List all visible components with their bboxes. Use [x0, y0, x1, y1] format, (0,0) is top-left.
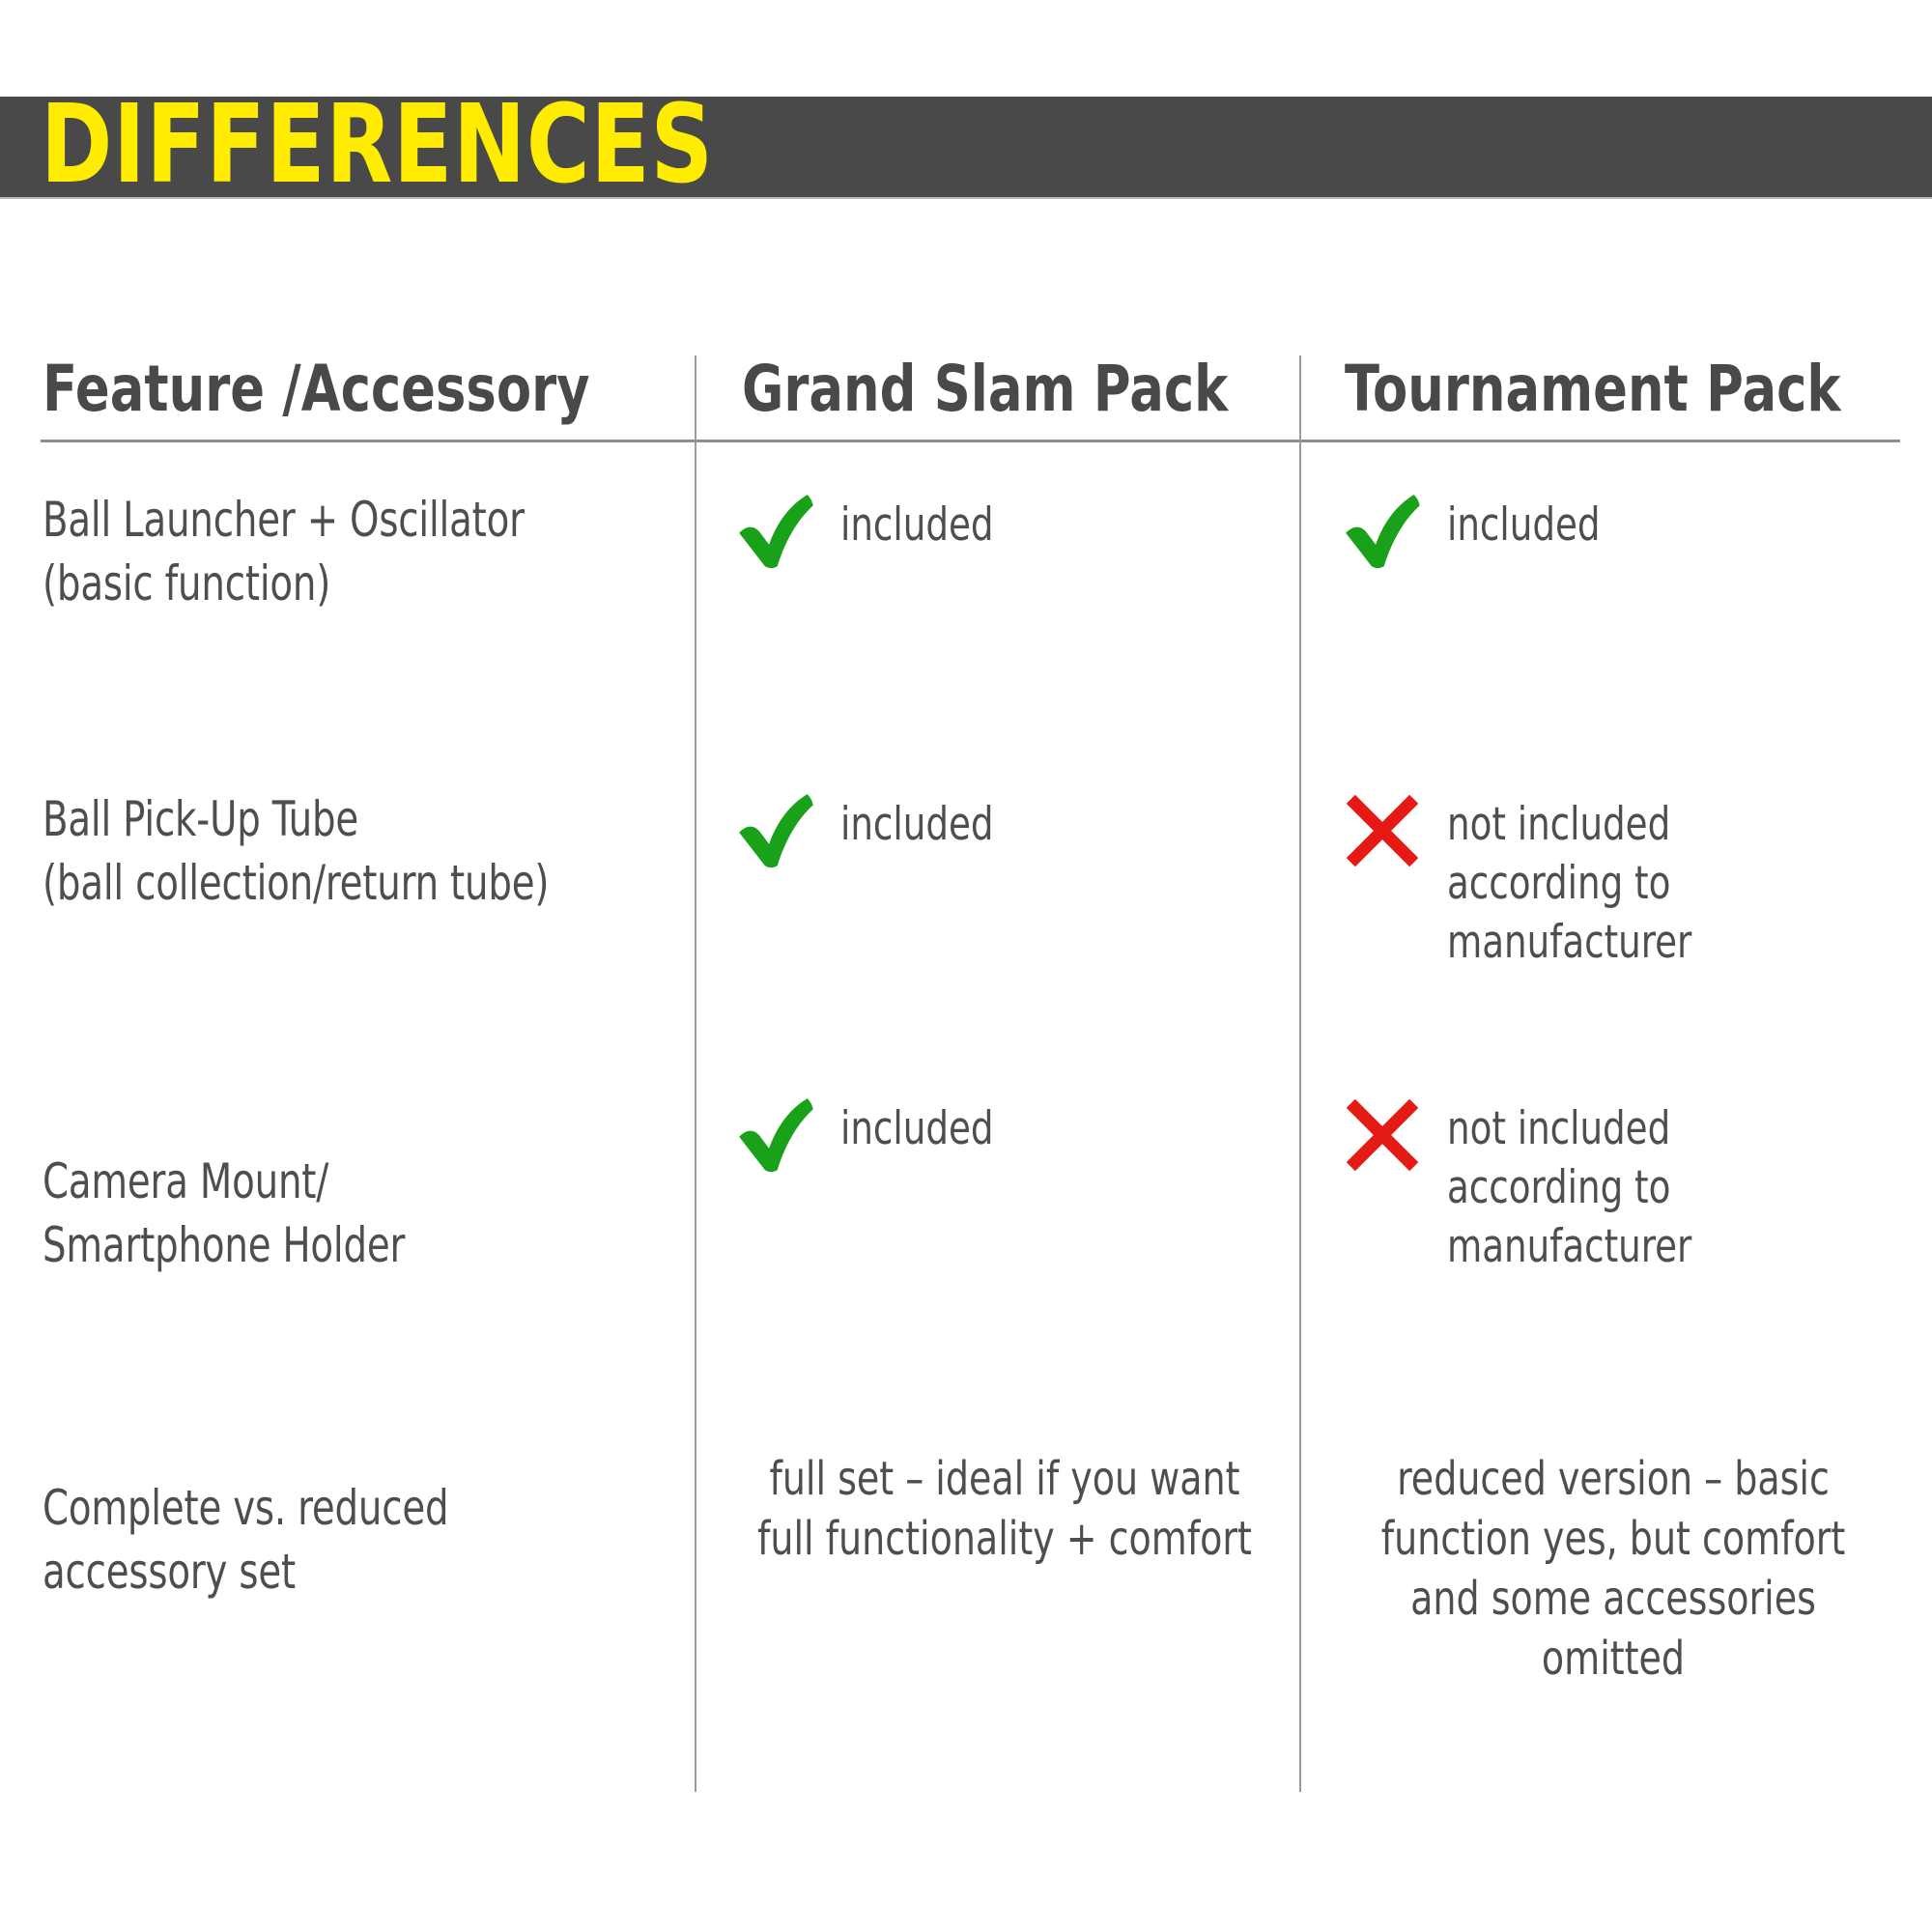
- status-text: included: [840, 1092, 993, 1158]
- status-text: not included according to manufacturer: [1447, 787, 1691, 972]
- check-icon: [734, 789, 817, 872]
- comparison-table-page: DIFFERENCES Feature /Accessory Grand Sla…: [0, 0, 1932, 1932]
- status-text: included: [840, 488, 993, 554]
- column-header-grand-slam: Grand Slam Pack: [742, 343, 1228, 436]
- check-icon: [734, 1094, 817, 1177]
- feature-label: Ball Pick-Up Tube (ball collection/retur…: [43, 787, 591, 915]
- tournament-status: not included according to manufacturer: [1341, 787, 1891, 972]
- check-icon: [734, 490, 817, 573]
- status-text: included: [840, 787, 993, 854]
- grand-slam-status: included: [734, 1092, 1275, 1177]
- column-header-feature: Feature /Accessory: [43, 343, 590, 436]
- status-text: included: [1447, 488, 1600, 554]
- column-divider-1: [695, 355, 696, 1792]
- column-divider-2: [1299, 355, 1301, 1792]
- grand-slam-note: full set – ideal if you want full functi…: [750, 1449, 1260, 1569]
- header-rule: [41, 440, 1900, 442]
- page-title: DIFFERENCES: [41, 95, 714, 195]
- grand-slam-status: included: [734, 787, 1275, 872]
- column-header-tournament: Tournament Pack: [1345, 343, 1840, 436]
- tournament-status: not included according to manufacturer: [1341, 1092, 1891, 1276]
- cross-icon: [1341, 789, 1424, 872]
- feature-label: Complete vs. reduced accessory set: [43, 1476, 591, 1604]
- status-text: not included according to manufacturer: [1447, 1092, 1691, 1276]
- check-icon: [1341, 490, 1424, 573]
- grand-slam-status: included: [734, 488, 1275, 573]
- feature-label: Camera Mount/ Smartphone Holder: [43, 1150, 591, 1277]
- title-banner: DIFFERENCES: [0, 97, 1932, 197]
- tournament-note: reduced version – basic function yes, bu…: [1350, 1449, 1877, 1689]
- tournament-status: included: [1341, 488, 1891, 573]
- feature-label: Ball Launcher + Oscillator (basic functi…: [43, 488, 591, 615]
- cross-icon: [1341, 1094, 1424, 1177]
